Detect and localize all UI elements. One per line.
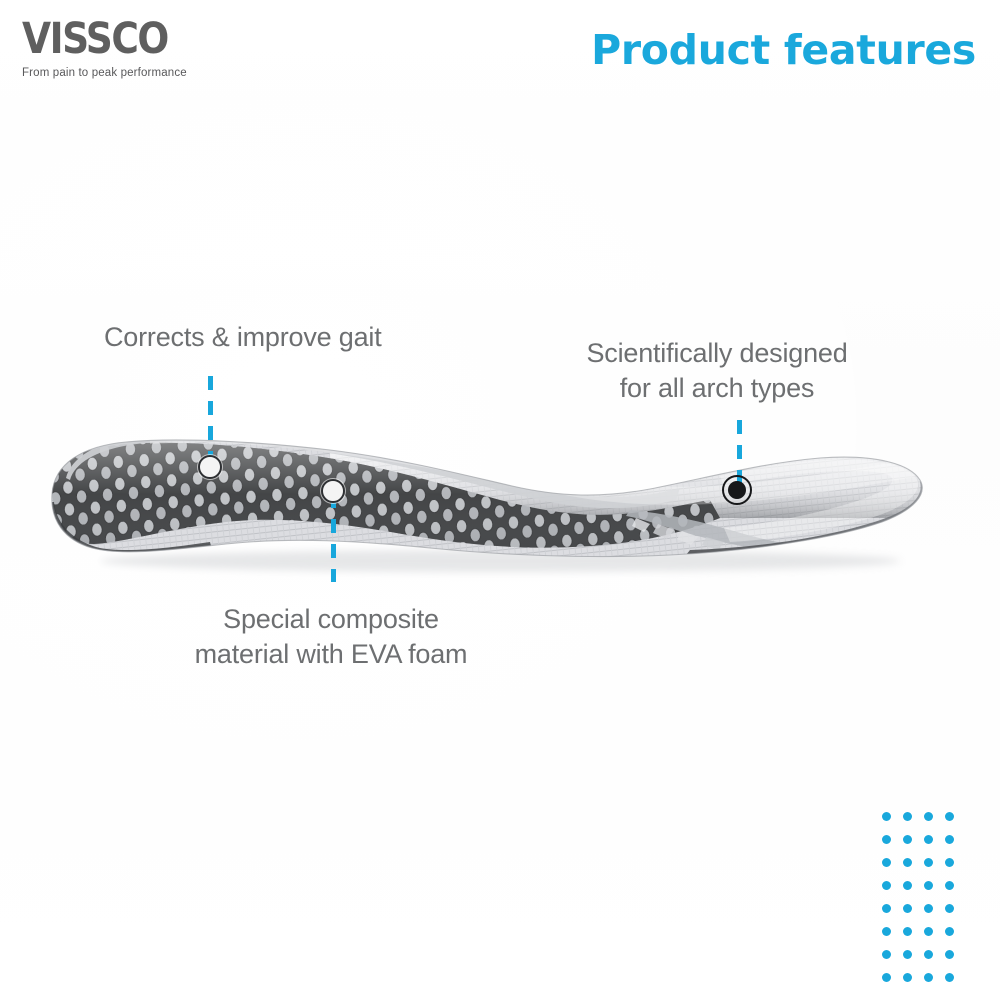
- hotspot-marker-scientifically-designed[interactable]: [722, 475, 752, 505]
- decorative-dot: [903, 973, 912, 982]
- decorative-dot: [903, 904, 912, 913]
- decorative-dot: [924, 835, 933, 844]
- callout-label-corrects-improve-gait: Corrects & improve gait: [104, 320, 382, 355]
- product-image: [30, 418, 940, 588]
- decorative-dot: [882, 904, 891, 913]
- decorative-dot: [903, 812, 912, 821]
- decorative-dot-grid: [882, 812, 954, 982]
- decorative-dot: [945, 973, 954, 982]
- decorative-dot: [945, 812, 954, 821]
- decorative-dot: [924, 881, 933, 890]
- decorative-dot: [945, 881, 954, 890]
- brand-wordmark: VISSCO: [22, 18, 274, 61]
- decorative-dot: [924, 927, 933, 936]
- page-title: Product features: [591, 26, 976, 74]
- decorative-dot: [882, 973, 891, 982]
- leader-line-special-composite-material: [331, 494, 336, 582]
- hotspot-marker-special-composite-material[interactable]: [321, 479, 345, 503]
- brand-logo: VISSCO From pain to peak performance: [22, 18, 282, 80]
- decorative-dot: [882, 927, 891, 936]
- decorative-dot: [882, 858, 891, 867]
- hotspot-marker-corrects-improve-gait[interactable]: [198, 455, 222, 479]
- product-features-slide: VISSCO From pain to peak performance Pro…: [0, 0, 1000, 1000]
- decorative-dot: [924, 904, 933, 913]
- decorative-dot: [882, 881, 891, 890]
- decorative-dot: [903, 858, 912, 867]
- decorative-dot: [903, 950, 912, 959]
- brand-tagline: From pain to peak performance: [22, 68, 282, 80]
- decorative-dot: [945, 927, 954, 936]
- decorative-dot: [924, 812, 933, 821]
- decorative-dot: [945, 950, 954, 959]
- callout-label-special-composite-material: Special composite material with EVA foam: [140, 602, 522, 671]
- decorative-dot: [903, 927, 912, 936]
- decorative-dot: [882, 812, 891, 821]
- decorative-dot: [882, 950, 891, 959]
- decorative-dot: [945, 835, 954, 844]
- decorative-dot: [903, 835, 912, 844]
- decorative-dot: [945, 858, 954, 867]
- decorative-dot: [945, 904, 954, 913]
- decorative-dot: [924, 858, 933, 867]
- decorative-dot: [924, 973, 933, 982]
- decorative-dot: [903, 881, 912, 890]
- decorative-dot: [882, 835, 891, 844]
- callout-label-scientifically-designed: Scientifically designed for all arch typ…: [535, 336, 899, 405]
- decorative-dot: [924, 950, 933, 959]
